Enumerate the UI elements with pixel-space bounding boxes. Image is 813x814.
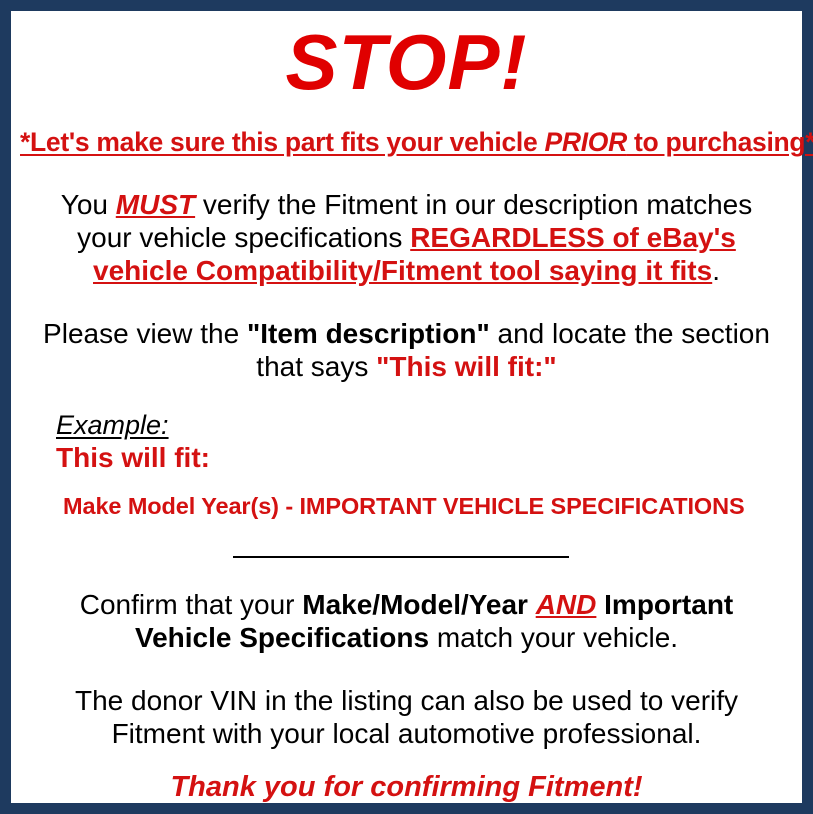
example-block: Example: This will fit: Make Model Year(… (20, 383, 793, 520)
please-view-paragraph: Please view the "Item description" and l… (20, 287, 793, 383)
confirm-part4: match your vehicle. (429, 622, 678, 653)
stop-headline: STOP! (20, 11, 793, 115)
this-will-fit-emphasis: "This will fit:" (376, 351, 557, 382)
confirm-part3 (596, 589, 604, 620)
and-emphasis: AND (536, 589, 597, 620)
notice-card-inner: STOP! *Let's make sure this part fits yo… (11, 11, 802, 803)
subtitle-text-part1: *Let's make sure this part fits your veh… (20, 127, 544, 157)
horizontal-divider (233, 556, 569, 558)
donor-vin-paragraph: The donor VIN in the listing can also be… (20, 654, 793, 750)
example-this-will-fit: This will fit: (56, 440, 793, 474)
confirm-part1: Confirm that your (80, 589, 303, 620)
confirm-part2 (528, 589, 536, 620)
subtitle-emphasis-prior: PRIOR (544, 127, 626, 157)
subtitle-banner: *Let's make sure this part fits your veh… (20, 115, 793, 157)
make-model-year-emphasis: Make/Model/Year (302, 589, 528, 620)
item-description-emphasis: "Item description" (247, 318, 490, 349)
please-paragraph-part1: Please view the (43, 318, 247, 349)
subtitle-text-part2: to purchasing* (627, 127, 813, 157)
example-spec-line: Make Model Year(s) - IMPORTANT VEHICLE S… (56, 473, 793, 520)
thank-you-line: Thank you for confirming Fitment! (20, 750, 793, 804)
confirm-paragraph: Confirm that your Make/Model/Year AND Im… (20, 563, 793, 654)
must-paragraph-part3: . (712, 255, 720, 286)
example-label-row: Example: (56, 411, 793, 439)
must-paragraph-part1: You (61, 189, 116, 220)
fitment-notice-card: STOP! *Let's make sure this part fits yo… (0, 0, 813, 814)
must-emphasis: MUST (116, 189, 195, 220)
must-verify-paragraph: You MUST verify the Fitment in our descr… (20, 157, 793, 287)
divider-row (20, 520, 793, 563)
example-label: Example: (56, 411, 169, 439)
